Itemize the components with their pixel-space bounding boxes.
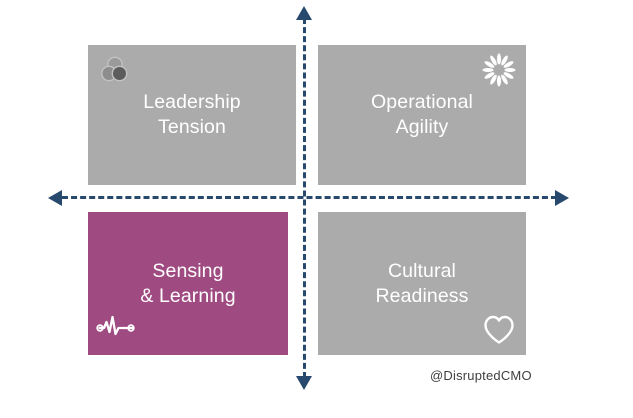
horizontal-axis-line	[62, 196, 557, 199]
quadrant-leadership-tension[interactable]: Leadership Tension	[88, 45, 296, 185]
quadrant-label: Cultural Readiness	[375, 259, 468, 309]
attribution-handle: @DisruptedCMO	[430, 368, 532, 383]
people-group-icon	[98, 53, 132, 87]
pulse-waveform-icon	[96, 313, 130, 347]
sunburst-icon	[482, 53, 516, 87]
quadrant-cultural-readiness[interactable]: Cultural Readiness	[318, 212, 526, 355]
quadrant-label: Sensing & Learning	[140, 259, 235, 309]
axis-arrow-right-icon	[555, 190, 569, 206]
axis-arrow-down-icon	[296, 376, 312, 390]
axis-arrow-up-icon	[296, 6, 312, 20]
quadrant-operational-agility[interactable]: Operational Agility	[318, 45, 526, 185]
axis-arrow-left-icon	[48, 190, 62, 206]
heart-outline-icon	[482, 313, 516, 347]
quadrant-sensing-learning[interactable]: Sensing & Learning	[88, 212, 288, 355]
quadrant-label: Leadership Tension	[143, 90, 241, 140]
quadrant-diagram-canvas: Leadership Tension Operational Agility	[0, 0, 633, 418]
quadrant-label: Operational Agility	[371, 90, 473, 140]
